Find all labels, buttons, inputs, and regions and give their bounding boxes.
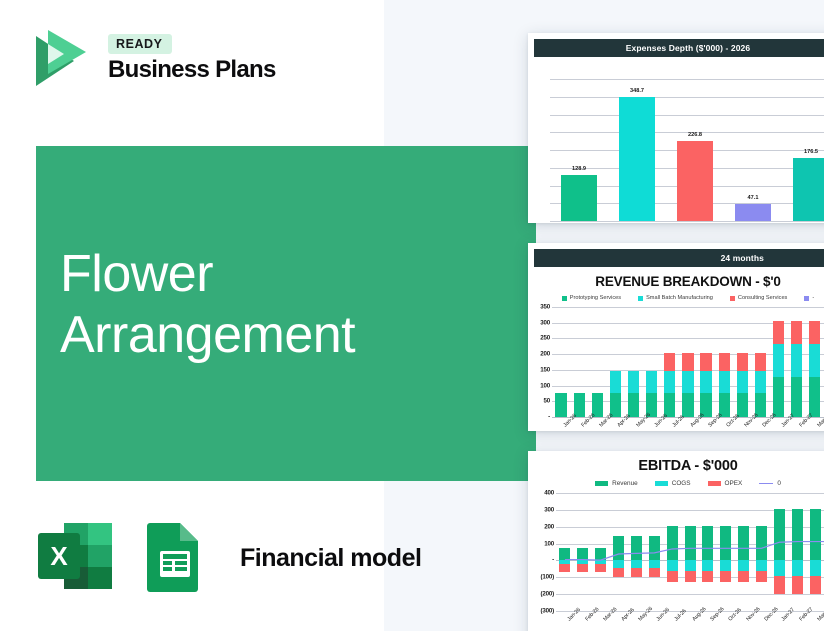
- stack-seg-opex: [667, 571, 678, 582]
- legend-label: Prototyping Services: [570, 295, 621, 301]
- stack-seg-consulting-services: [755, 353, 766, 372]
- stack-seg-revenue: [702, 526, 713, 561]
- footer-row: X Financial model: [34, 519, 421, 597]
- stack-seg-consulting-services: [682, 353, 693, 372]
- legend-label: COGS: [672, 480, 691, 487]
- xlab-slot: Jun-26: [643, 418, 661, 431]
- legend-swatch-2: [730, 296, 735, 301]
- y-axis-tick: 50: [535, 398, 550, 405]
- ebitda-plot-area: 400300200100-(100)(200)(300)Jan-26Feb-26…: [534, 491, 824, 631]
- bar-slot: [588, 307, 606, 417]
- xlab-slot: Jan-27: [771, 612, 789, 631]
- legend-label: Revenue: [612, 480, 638, 487]
- bar-slot: 348.7: [608, 79, 666, 221]
- legend-item: Revenue: [595, 480, 638, 487]
- stacked-column: [753, 493, 771, 611]
- expenses-bars-area: 128.9348.7226.847.1176.5: [550, 79, 824, 221]
- y-axis-tick: (100): [535, 574, 554, 581]
- stack-seg-consulting-services: [664, 353, 675, 372]
- sheets-icon-svg: [134, 519, 216, 597]
- xlab-slot: Mar-27: [806, 612, 824, 631]
- stack-seg-consulting-services: [773, 321, 784, 344]
- stacked-column: [806, 493, 824, 611]
- expenses-bars: 128.9348.7226.847.1176.5: [550, 79, 824, 221]
- stacked-column: [552, 307, 570, 417]
- title-banner: Flower Arrangement: [36, 146, 536, 481]
- stack-seg-revenue: [649, 536, 660, 560]
- stack-seg-prototyping-services: [809, 377, 820, 417]
- legend-item: COGS: [655, 480, 691, 487]
- stack-seg-cogs: [649, 560, 660, 567]
- bar-slot: [715, 307, 733, 417]
- stacked-column: [606, 307, 624, 417]
- stack-seg-consulting-services: [719, 353, 730, 372]
- y-axis-tick: 150: [535, 366, 550, 373]
- bar-slot: [770, 307, 788, 417]
- brand-name: Business Plans: [108, 57, 276, 83]
- stack-seg-small-batch-manufacturing: [755, 371, 766, 393]
- stacked-column: [788, 493, 806, 611]
- bar-slot: [552, 307, 570, 417]
- excel-icon-svg: X: [34, 519, 116, 597]
- plot-revenue-area: 35030025020015010050-: [552, 307, 824, 417]
- bar-slot: [753, 493, 771, 611]
- stack-seg-cogs: [720, 560, 731, 570]
- stack-seg-small-batch-manufacturing: [628, 371, 639, 393]
- legend-swatch-0: [595, 481, 608, 486]
- bar-slot: [751, 307, 769, 417]
- stack-seg-opex: [738, 571, 749, 582]
- chart-card-revenue: 24 months REVENUE BREAKDOWN - $'0 Protot…: [528, 243, 824, 431]
- stack-seg-small-batch-manufacturing: [737, 371, 748, 393]
- y-axis-tick: (200): [535, 591, 554, 598]
- stacked-column: [806, 307, 824, 417]
- xlab-slot: Feb-27: [788, 418, 806, 431]
- stacked-column: [625, 307, 643, 417]
- bar-slot: [806, 307, 824, 417]
- svg-text:X: X: [50, 541, 68, 571]
- plot-ebitda-xlabels: Jan-26Feb-26Mar-26Apr-26May-26Jun-26Jul-…: [556, 612, 824, 631]
- xlab-slot: Nov-26: [735, 612, 753, 631]
- stack-seg-prototyping-services: [773, 377, 784, 417]
- microsoft-excel-icon: X: [34, 519, 116, 597]
- expenses-plot-area: 128.9348.7226.847.1176.5: [534, 65, 824, 221]
- logo-svg: [28, 24, 94, 94]
- legend-swatch-1: [638, 296, 643, 301]
- bar-slot: 226.8: [666, 79, 724, 221]
- y-axis-tick: 200: [535, 351, 550, 358]
- stack-seg-consulting-services: [700, 353, 711, 372]
- xlab-slot: Jan-26: [556, 612, 574, 631]
- stacked-column: [770, 307, 788, 417]
- stack-seg-revenue: [774, 509, 785, 561]
- stack-seg-small-batch-manufacturing: [610, 371, 621, 393]
- xlab-slot: May-26: [628, 612, 646, 631]
- xlab-slot: Feb-27: [788, 612, 806, 631]
- plot-ebitda-area: 400300200100-(100)(200)(300): [556, 493, 824, 611]
- legend-item: Prototyping Services: [562, 295, 621, 301]
- bar-slot: [697, 307, 715, 417]
- revenue-plot-area: 35030025020015010050-Jan-26Feb-26Mar-26A…: [534, 305, 824, 431]
- xlab-slot: Jul-26: [663, 612, 681, 631]
- bar-slot: [556, 493, 574, 611]
- xlab-slot: Dec-26: [753, 612, 771, 631]
- stack-seg-prototyping-services: [555, 393, 566, 417]
- legend-label: OPEX: [725, 480, 743, 487]
- stack-seg-opex: [649, 568, 660, 577]
- bar-slot: [699, 493, 717, 611]
- stacked-column: [610, 493, 628, 611]
- stack-seg-prototyping-services: [791, 377, 802, 417]
- y-axis-tick: 100: [535, 540, 554, 547]
- stack-seg-revenue: [613, 536, 624, 560]
- stack-seg-opex: [702, 571, 713, 582]
- stack-seg-cogs: [631, 560, 642, 567]
- bar-slot: 176.5: [782, 79, 824, 221]
- stack-seg-opex: [577, 564, 588, 572]
- xlab-slot: Apr-26: [610, 612, 628, 631]
- stack-seg-cogs: [792, 560, 803, 576]
- bar-slot: [717, 493, 735, 611]
- bar-data-label: 176.5: [804, 149, 818, 155]
- stacked-column: [751, 307, 769, 417]
- legend-label: Consulting Services: [738, 295, 787, 301]
- stack-seg-cogs: [756, 560, 767, 570]
- stack-seg-revenue: [577, 548, 588, 561]
- stack-seg-consulting-services: [791, 321, 802, 344]
- expenses-header-bar: Expenses Depth ($'000) - 2026: [534, 39, 824, 57]
- xlab-slot: Jun-26: [645, 612, 663, 631]
- xlab-slot: Feb-26: [570, 418, 588, 431]
- bar-slot: [733, 307, 751, 417]
- stack-seg-revenue: [559, 548, 570, 561]
- y-axis-tick: -: [535, 414, 550, 421]
- stack-seg-opex: [631, 568, 642, 577]
- bar-slot: [788, 493, 806, 611]
- bar-3: 47.1: [735, 204, 771, 221]
- stack-seg-small-batch-manufacturing: [682, 371, 693, 393]
- page-title: Flower Arrangement: [60, 244, 500, 366]
- xlab-slot: Oct-26: [717, 612, 735, 631]
- revenue-chart-title: REVENUE BREAKDOWN - $'0: [528, 274, 824, 289]
- legend-label: -: [812, 295, 814, 301]
- xlab-slot: Apr-26: [606, 418, 624, 431]
- stack-seg-revenue: [792, 509, 803, 561]
- xlab-slot: May-26: [625, 418, 643, 431]
- xlab-slot: Aug-26: [681, 612, 699, 631]
- bar-slot: [606, 307, 624, 417]
- legend-label: 0: [777, 480, 781, 487]
- ebitda-legend: RevenueCOGSOPEX0: [528, 480, 824, 487]
- bar-slot: [735, 493, 753, 611]
- stack-seg-opex: [720, 571, 731, 582]
- stacked-column: [574, 493, 592, 611]
- stack-seg-opex: [559, 564, 570, 572]
- bar-slot: [570, 307, 588, 417]
- bar-slot: [643, 307, 661, 417]
- bar-slot: [661, 307, 679, 417]
- bar-data-label: 128.9: [572, 166, 586, 172]
- stack-seg-small-batch-manufacturing: [809, 344, 820, 377]
- xlab-slot: Oct-26: [715, 418, 733, 431]
- double-play-triangle-logo: [28, 24, 94, 94]
- xlab-slot: Sep-26: [697, 418, 715, 431]
- y-axis-tick: 350: [535, 304, 550, 311]
- brand-text: READY Business Plans: [108, 34, 276, 84]
- stack-seg-prototyping-services: [682, 393, 693, 417]
- stack-seg-consulting-services: [737, 353, 748, 372]
- stack-seg-revenue: [756, 526, 767, 561]
- xlab-slot: Sep-26: [699, 612, 717, 631]
- stacked-column: [592, 493, 610, 611]
- bar-slot: [610, 493, 628, 611]
- legend-item: Consulting Services: [730, 295, 787, 301]
- bar-data-label: 47.1: [748, 195, 759, 201]
- xlab-slot: Mar-26: [592, 612, 610, 631]
- stack-seg-opex: [613, 568, 624, 577]
- stacked-column: [643, 307, 661, 417]
- xlab-slot: Dec-26: [751, 418, 769, 431]
- bar-slot: [628, 493, 646, 611]
- xlab-slot: Mar-26: [588, 418, 606, 431]
- stack-seg-prototyping-services: [737, 393, 748, 417]
- stack-seg-revenue: [720, 526, 731, 561]
- stacked-column: [697, 307, 715, 417]
- bar-data-label: 226.8: [688, 132, 702, 138]
- stack-seg-small-batch-manufacturing: [719, 371, 730, 393]
- bar-slot: [574, 493, 592, 611]
- y-axis-tick: 100: [535, 382, 550, 389]
- stack-seg-revenue: [685, 526, 696, 561]
- stacked-column: [570, 307, 588, 417]
- stack-seg-cogs: [685, 560, 696, 570]
- stack-seg-prototyping-services: [628, 393, 639, 417]
- stack-seg-opex: [792, 576, 803, 594]
- stacked-column: [699, 493, 717, 611]
- bar-slot: [645, 493, 663, 611]
- revenue-legend: Prototyping ServicesSmall Batch Manufact…: [528, 295, 824, 301]
- y-axis-tick: 200: [535, 523, 554, 530]
- stacked-column: [733, 307, 751, 417]
- bar-slot: [663, 493, 681, 611]
- stack-seg-revenue: [810, 509, 821, 561]
- legend-item: OPEX: [708, 480, 743, 487]
- xlab-slot: Nov-26: [733, 418, 751, 431]
- xlab-slot: Jan-26: [552, 418, 570, 431]
- xlab-slot: Feb-26: [574, 612, 592, 631]
- stack-seg-cogs: [774, 560, 785, 576]
- plot-revenue-xlabels: Jan-26Feb-26Mar-26Apr-26May-26Jun-26Jul-…: [552, 418, 824, 431]
- stack-seg-small-batch-manufacturing: [664, 371, 675, 393]
- footer-label: Financial model: [240, 544, 421, 573]
- plot-revenue-bars: [552, 307, 824, 417]
- stack-seg-revenue: [595, 548, 606, 561]
- stack-seg-consulting-services: [809, 321, 820, 344]
- bar-1: 348.7: [619, 97, 655, 221]
- stacked-column: [771, 493, 789, 611]
- stack-seg-revenue: [631, 536, 642, 560]
- xlab-slot: Jul-26: [661, 418, 679, 431]
- stacked-column: [628, 493, 646, 611]
- stack-seg-revenue: [667, 526, 678, 561]
- stacked-column: [588, 307, 606, 417]
- stacked-column: [717, 493, 735, 611]
- stacked-column: [661, 307, 679, 417]
- legend-swatch-2: [708, 481, 721, 486]
- bar-slot: [771, 493, 789, 611]
- stack-seg-small-batch-manufacturing: [773, 344, 784, 377]
- stack-seg-cogs: [667, 560, 678, 570]
- stacked-column: [663, 493, 681, 611]
- y-axis-tick: (300): [535, 608, 554, 615]
- bar-4: 176.5: [793, 158, 824, 221]
- legend-item: 0: [759, 480, 781, 487]
- bar-slot: [625, 307, 643, 417]
- legend-swatch-3: [759, 483, 773, 485]
- chart-card-expenses: Expenses Depth ($'000) - 2026 128.9348.7…: [528, 33, 824, 223]
- stack-seg-opex: [595, 564, 606, 572]
- y-axis-tick: 250: [535, 335, 550, 342]
- bar-data-label: 348.7: [630, 88, 644, 94]
- stacked-column: [788, 307, 806, 417]
- stack-seg-opex: [756, 571, 767, 582]
- google-sheets-icon: [134, 519, 216, 597]
- stack-seg-cogs: [613, 560, 624, 567]
- legend-label: Small Batch Manufacturing: [646, 295, 713, 301]
- title-wrap: Flower Arrangement: [60, 244, 500, 366]
- stack-seg-cogs: [738, 560, 749, 570]
- stack-seg-opex: [774, 576, 785, 594]
- stacked-column: [645, 493, 663, 611]
- legend-swatch-3: [804, 296, 809, 301]
- legend-item: -: [804, 295, 814, 301]
- y-axis-tick: 300: [535, 506, 554, 513]
- legend-swatch-0: [562, 296, 567, 301]
- stacked-column: [679, 307, 697, 417]
- xlab-slot: Jan-27: [770, 418, 788, 431]
- stack-seg-cogs: [702, 560, 713, 570]
- xlab-slot: Aug-26: [679, 418, 697, 431]
- bar-slot: [788, 307, 806, 417]
- stack-seg-opex: [685, 571, 696, 582]
- chart-card-ebitda: EBITDA - $'000 RevenueCOGSOPEX0 40030020…: [528, 451, 824, 631]
- revenue-header-bar: 24 months: [534, 249, 824, 267]
- stack-seg-cogs: [810, 560, 821, 576]
- stacked-column: [681, 493, 699, 611]
- stack-seg-small-batch-manufacturing: [700, 371, 711, 393]
- ready-badge: READY: [108, 34, 172, 54]
- stacked-column: [735, 493, 753, 611]
- stack-seg-small-batch-manufacturing: [791, 344, 802, 377]
- bar-slot: [679, 307, 697, 417]
- brand-logo: READY Business Plans: [28, 24, 276, 94]
- bar-slot: [806, 493, 824, 611]
- y-axis-tick: 400: [535, 490, 554, 497]
- bar-slot: 47.1: [724, 79, 782, 221]
- gridline: [550, 221, 824, 222]
- legend-item: Small Batch Manufacturing: [638, 295, 713, 301]
- bar-0: 128.9: [561, 175, 597, 221]
- bar-slot: [592, 493, 610, 611]
- stack-seg-revenue: [738, 526, 749, 561]
- ebitda-chart-title: EBITDA - $'000: [528, 458, 824, 474]
- stacked-column: [715, 307, 733, 417]
- stack-seg-opex: [810, 576, 821, 594]
- bar-slot: 128.9: [550, 79, 608, 221]
- plot-ebitda-bars: [556, 493, 824, 611]
- stacked-column: [556, 493, 574, 611]
- xlab-slot: Mar-27: [806, 418, 824, 431]
- bar-slot: [681, 493, 699, 611]
- legend-swatch-1: [655, 481, 668, 486]
- stack-seg-small-batch-manufacturing: [646, 371, 657, 393]
- y-axis-tick: 300: [535, 319, 550, 326]
- bar-2: 226.8: [677, 141, 713, 222]
- y-axis-tick: -: [535, 557, 554, 564]
